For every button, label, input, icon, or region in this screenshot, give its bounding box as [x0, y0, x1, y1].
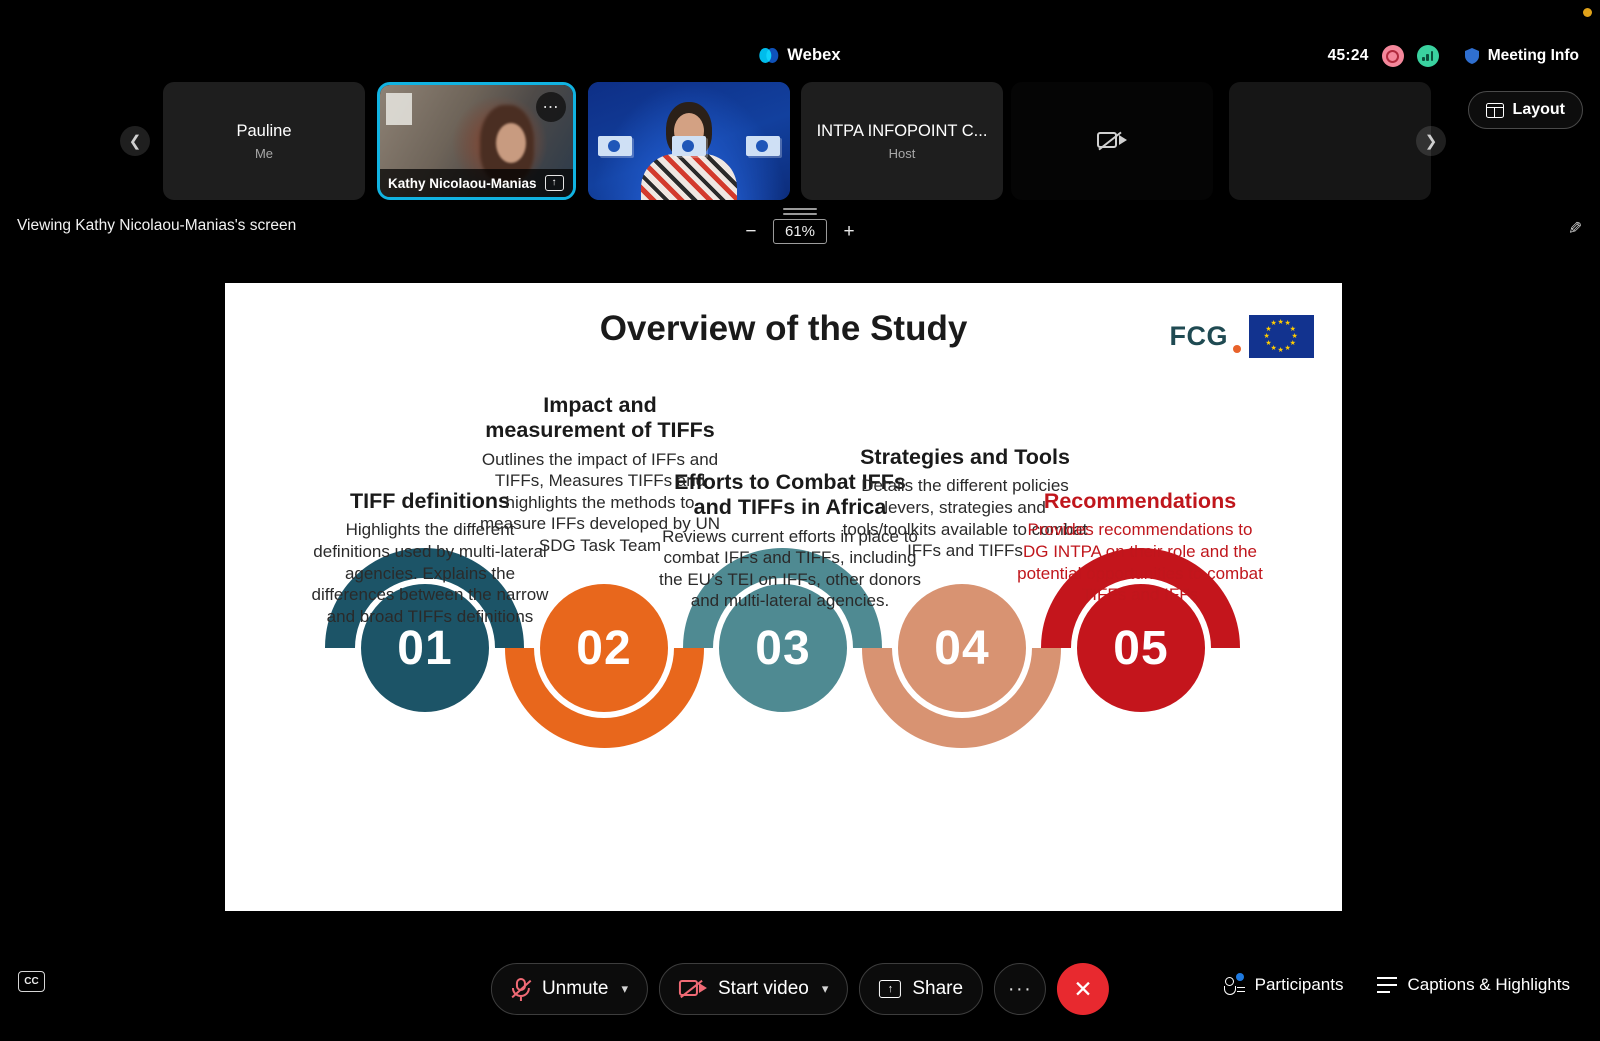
top-bar: Webex 45:24 Meeting Info — [0, 0, 1600, 78]
app-title: Webex — [787, 46, 840, 65]
layout-label: Layout — [1513, 101, 1565, 119]
participant-name: Kathy Nicolaou-Manias — [388, 176, 537, 191]
drag-handle[interactable] — [783, 205, 817, 218]
captions-lines-icon — [1377, 977, 1397, 993]
eu-flag-icon: ★★★★★★★★★★★★ — [1249, 315, 1314, 358]
signal-strength-icon[interactable] — [1417, 45, 1439, 67]
share-label: Share — [912, 978, 963, 1000]
annotate-pen-icon[interactable]: ✎ — [1568, 219, 1582, 239]
participant-tile-kathy[interactable]: ⋯ Kathy Nicolaou-Manias ↑ — [377, 82, 576, 200]
participant-video — [588, 82, 790, 200]
chevron-down-icon[interactable]: ▾ — [822, 981, 829, 997]
filmstrip-next-button[interactable]: ❯ — [1416, 126, 1446, 156]
more-options-button[interactable]: ··· — [994, 963, 1046, 1015]
layout-grid-icon — [1486, 103, 1504, 118]
participant-tile-video[interactable] — [588, 82, 790, 200]
unmute-button[interactable]: Unmute ▾ — [491, 963, 648, 1015]
unmute-label: Unmute — [542, 978, 609, 1000]
participant-role: Host — [889, 146, 916, 161]
start-video-label: Start video — [718, 978, 809, 1000]
eu-star: ★ — [1285, 345, 1291, 352]
zoom-level-value[interactable]: 61% — [773, 219, 827, 244]
start-video-button[interactable]: Start video ▾ — [659, 963, 848, 1015]
meeting-info-button[interactable]: Meeting Info — [1455, 44, 1588, 68]
step-body-05: Provides recommendations to DG INTPA on … — [1015, 519, 1265, 605]
share-screen-icon: ↑ — [545, 175, 564, 191]
step-circle-02: 02 — [534, 578, 674, 718]
zoom-out-button[interactable]: − — [743, 222, 759, 241]
step-heading-05: Recommendations — [1015, 489, 1265, 514]
meeting-info-label: Meeting Info — [1488, 47, 1579, 65]
captions-label: Captions & Highlights — [1407, 975, 1570, 995]
zoom-controls: − 61% + — [743, 219, 857, 244]
eu-star: ★ — [1290, 326, 1296, 333]
camera-off-icon — [679, 979, 707, 999]
participants-button[interactable]: Participants — [1224, 975, 1344, 995]
step-heading-04: Strategies and Tools — [840, 445, 1090, 470]
eu-star: ★ — [1292, 333, 1298, 340]
participant-tile-host[interactable]: INTPA INFOPOINT C... Host — [801, 82, 1003, 200]
participant-name: Pauline — [236, 122, 291, 141]
participant-tile-empty[interactable] — [1229, 82, 1431, 200]
shield-icon — [1464, 47, 1480, 65]
fcg-logo: FCG ★★★★★★★★★★★★ — [1170, 315, 1315, 358]
recording-icon[interactable] — [1382, 45, 1404, 67]
more-options-icon[interactable]: ⋯ — [536, 92, 566, 122]
app-brand: Webex — [759, 46, 840, 65]
participants-icon — [1224, 976, 1245, 995]
filmstrip-prev-button[interactable]: ❮ — [120, 126, 150, 156]
participant-role: Me — [255, 146, 273, 161]
captions-highlights-button[interactable]: Captions & Highlights — [1377, 975, 1570, 995]
notification-dot — [1583, 8, 1592, 17]
primary-controls: Unmute ▾ Start video ▾ ↑ Share ··· ✕ — [491, 963, 1109, 1015]
step-heading-02: Impact and measurement of TIFFs — [475, 393, 725, 444]
fcg-logo-text: FCG — [1170, 321, 1229, 352]
eu-star: ★ — [1278, 319, 1284, 326]
webex-logo-icon — [759, 48, 778, 63]
camera-off-icon — [1097, 130, 1127, 152]
share-button[interactable]: ↑ Share — [859, 963, 983, 1015]
viewing-status-text: Viewing Kathy Nicolaou-Manias's screen — [17, 217, 296, 235]
closed-captions-badge[interactable]: CC — [18, 971, 45, 992]
participant-filmstrip: ❮ Pauline Me ⋯ Kathy Nicolaou-Manias ↑ I… — [0, 82, 1600, 200]
top-right-status: 45:24 Meeting Info — [1328, 44, 1588, 68]
notification-dot — [1236, 973, 1244, 981]
meeting-control-bar: CC Unmute ▾ Start video ▾ ↑ Share ··· — [0, 941, 1600, 1041]
eu-star: ★ — [1271, 320, 1277, 327]
microphone-muted-icon — [511, 977, 531, 1001]
eu-star: ★ — [1264, 333, 1270, 340]
meeting-timer: 45:24 — [1328, 47, 1369, 65]
webex-meeting-window: Webex 45:24 Meeting Info ❮ Pauline Me ⋯ — [0, 0, 1600, 1041]
leave-meeting-button[interactable]: ✕ — [1057, 963, 1109, 1015]
fcg-logo-dot — [1233, 345, 1241, 353]
screenshare-toolbar: Viewing Kathy Nicolaou-Manias's screen −… — [0, 205, 1600, 251]
step-caption-05: Recommendations Provides recommendations… — [1015, 489, 1265, 606]
participant-tile-pauline[interactable]: Pauline Me — [163, 82, 365, 200]
eu-star: ★ — [1278, 347, 1284, 354]
zoom-in-button[interactable]: + — [841, 222, 857, 241]
eu-star: ★ — [1265, 340, 1271, 347]
participant-name: INTPA INFOPOINT C... — [817, 122, 988, 141]
chevron-down-icon[interactable]: ▾ — [621, 981, 628, 997]
participants-label: Participants — [1255, 975, 1344, 995]
share-screen-icon: ↑ — [879, 980, 901, 998]
participant-tile-camera-off[interactable] — [1011, 82, 1213, 200]
shared-screen-slide: Overview of the Study FCG ★★★★★★★★★★★★ 0… — [225, 283, 1342, 911]
layout-button[interactable]: Layout — [1468, 91, 1583, 129]
participant-name-bar: Kathy Nicolaou-Manias ↑ — [380, 169, 573, 197]
secondary-controls: Participants Captions & Highlights — [1224, 975, 1570, 995]
